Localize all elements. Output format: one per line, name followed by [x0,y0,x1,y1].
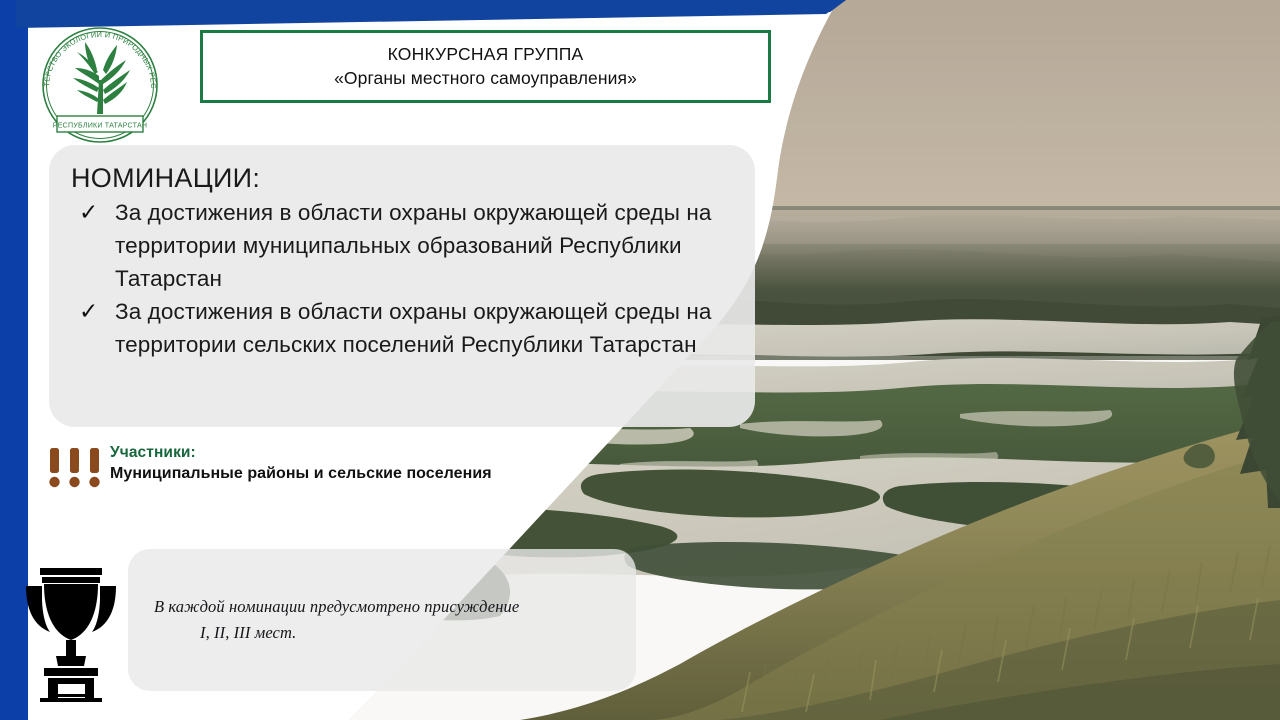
places-card: В каждой номинации предусмотрено присужд… [128,549,636,691]
nomination-text: За достижения в области охраны окружающе… [115,295,733,361]
participants-value: Муниципальные районы и сельские поселени… [110,465,568,483]
header-title-line2: «Органы местного самоуправления» [334,68,637,89]
check-icon: ✓ [71,295,115,329]
nominations-card: НОМИНАЦИИ: ✓ За достижения в области охр… [49,145,755,427]
list-item: ✓ За достижения в области охраны окружаю… [71,196,733,295]
header-title-line1: КОНКУРСНАЯ ГРУППА [388,44,584,65]
exclamation-marks-icon [48,447,110,493]
trophy-icon [18,562,124,702]
participants-block: Участники: Муниципальные районы и сельск… [48,443,568,499]
places-line-1: В каждой номинации предусмотрено присужд… [154,594,610,620]
ministry-ecology-tatarstan-emblem: МИНИСТЕРСТВО ЭКОЛОГИИ И ПРИРОДНЫХ РЕСУРС… [33,18,167,152]
competition-group-header: КОНКУРСНАЯ ГРУППА «Органы местного самоу… [200,30,771,103]
places-line-2: I, II, III мест. [154,620,610,646]
participants-text: Участники: Муниципальные районы и сельск… [110,443,568,483]
nominations-list: ✓ За достижения в области охраны окружаю… [71,196,733,361]
check-icon: ✓ [71,196,115,230]
emblem-banner-text: РЕСПУБЛИКИ ТАТАРСТАН [53,122,147,130]
list-item: ✓ За достижения в области охраны окружаю… [71,295,733,361]
nominations-title: НОМИНАЦИИ: [71,163,733,194]
slide-root: МИНИСТЕРСТВО ЭКОЛОГИИ И ПРИРОДНЫХ РЕСУРС… [0,0,1280,720]
participants-label: Участники: [110,444,568,462]
nomination-text: За достижения в области охраны окружающе… [115,196,733,295]
